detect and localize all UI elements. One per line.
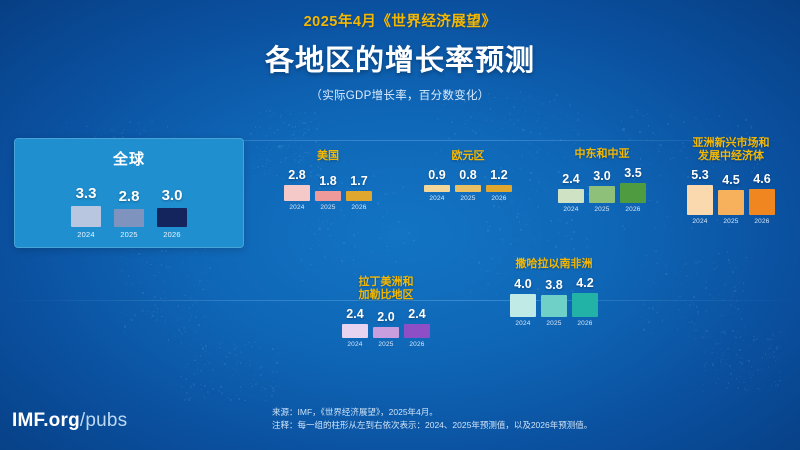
bar-group: 4.22026 bbox=[572, 276, 598, 327]
bar-year-label: 2026 bbox=[577, 320, 592, 327]
header-subtitle: （实际GDP增长率，百分数变化） bbox=[0, 87, 800, 103]
bar-group: 3.02026 bbox=[157, 187, 187, 239]
bar-value-label: 3.0 bbox=[593, 169, 610, 183]
panel-united-states: 美国 2.820241.820251.72026 bbox=[272, 150, 384, 211]
bar bbox=[510, 294, 536, 317]
bar-year-label: 2025 bbox=[320, 204, 335, 211]
panel-sub-saharan-africa: 撒哈拉以南非洲 4.020243.820254.22026 bbox=[494, 258, 614, 327]
bar-year-label: 2025 bbox=[594, 206, 609, 213]
bar-year-label: 2024 bbox=[77, 230, 95, 239]
imf-logo[interactable]: IMF.org/pubs bbox=[12, 410, 127, 432]
bar-value-label: 2.8 bbox=[119, 188, 140, 205]
bar-value-label: 5.3 bbox=[691, 168, 708, 182]
bar-year-label: 2025 bbox=[378, 341, 393, 348]
bar bbox=[572, 293, 598, 317]
imf-logo-sub: /pubs bbox=[80, 410, 127, 431]
bar-year-label: 2024 bbox=[289, 204, 304, 211]
bar bbox=[558, 189, 584, 203]
bar-group: 3.52026 bbox=[620, 166, 646, 213]
bar bbox=[71, 206, 101, 227]
bar bbox=[455, 185, 481, 192]
bar bbox=[342, 324, 368, 338]
bar-year-label: 2024 bbox=[563, 206, 578, 213]
bar-group: 3.82025 bbox=[541, 278, 567, 327]
bar-value-label: 2.0 bbox=[377, 310, 394, 324]
bar bbox=[486, 185, 512, 192]
header: 2025年4月《世界经济展望》 各地区的增长率预测 （实际GDP增长率，百分数变… bbox=[0, 10, 800, 103]
bar-year-label: 2025 bbox=[460, 195, 475, 202]
bar-chart-latin-america: 2.420242.020252.42026 bbox=[330, 307, 442, 348]
bar-group: 2.42024 bbox=[558, 172, 584, 213]
panel-title: 拉丁美洲和 加勒比地区 bbox=[330, 276, 442, 302]
panel-title: 撒哈拉以南非洲 bbox=[494, 258, 614, 271]
panel-global-title: 全球 bbox=[15, 148, 243, 169]
panel-global: 全球 3.320242.820253.02026 bbox=[14, 138, 244, 248]
bar-chart-euro-area: 0.920240.820251.22026 bbox=[412, 168, 524, 202]
bar-value-label: 3.3 bbox=[76, 185, 97, 202]
bar-chart-sub-saharan-africa: 4.020243.820254.22026 bbox=[494, 276, 614, 327]
imf-logo-main: IMF.org bbox=[12, 410, 80, 431]
footnotes: 来源：IMF，《世界经济展望》，2025年4月。 注释：每一组的柱形从左到右依次… bbox=[272, 406, 592, 432]
bar-value-label: 3.8 bbox=[545, 278, 562, 292]
bar-value-label: 4.5 bbox=[722, 173, 739, 187]
bar bbox=[718, 190, 744, 215]
bar-group: 4.62026 bbox=[749, 172, 775, 225]
bar-value-label: 0.9 bbox=[428, 168, 445, 182]
panel-middle-east-central-asia: 中东和中亚 2.420243.020253.52026 bbox=[546, 148, 658, 213]
bar-year-label: 2026 bbox=[351, 204, 366, 211]
bar bbox=[620, 183, 646, 203]
bar-year-label: 2026 bbox=[754, 218, 769, 225]
bar bbox=[404, 324, 430, 338]
bar-value-label: 3.5 bbox=[624, 166, 641, 180]
panel-emerging-asia: 亚洲新兴市场和 发展中经济体 5.320244.520254.62026 bbox=[672, 137, 790, 225]
header-superline: 2025年4月《世界经济展望》 bbox=[0, 10, 800, 31]
bar bbox=[749, 189, 775, 215]
page-title: 各地区的增长率预测 bbox=[0, 37, 800, 79]
bar-year-label: 2026 bbox=[491, 195, 506, 202]
bar-chart-emerging-asia: 5.320244.520254.62026 bbox=[672, 168, 790, 225]
bar-year-label: 2024 bbox=[347, 341, 362, 348]
bar-chart-middle-east-central-asia: 2.420243.020253.52026 bbox=[546, 166, 658, 213]
slide-canvas: 2025年4月《世界经济展望》 各地区的增长率预测 （实际GDP增长率，百分数变… bbox=[0, 0, 800, 450]
bar-group: 5.32024 bbox=[687, 168, 713, 225]
panel-title: 亚洲新兴市场和 发展中经济体 bbox=[672, 137, 790, 163]
bar-group: 2.02025 bbox=[373, 310, 399, 348]
bar bbox=[315, 191, 341, 201]
bar-group: 4.52025 bbox=[718, 173, 744, 225]
bar-value-label: 4.6 bbox=[753, 172, 770, 186]
methodology-note: 注释：每一组的柱形从左到右依次表示：2024、2025年预测值，以及2026年预… bbox=[272, 419, 592, 432]
panel-latin-america: 拉丁美洲和 加勒比地区 2.420242.020252.42026 bbox=[330, 276, 442, 348]
bar bbox=[687, 185, 713, 215]
bar-year-label: 2025 bbox=[120, 230, 138, 239]
bar-value-label: 1.2 bbox=[490, 168, 507, 182]
bar-value-label: 2.4 bbox=[562, 172, 579, 186]
bar-value-label: 2.4 bbox=[346, 307, 363, 321]
bar-year-label: 2024 bbox=[692, 218, 707, 225]
bar-group: 4.02024 bbox=[510, 277, 536, 327]
bar bbox=[424, 185, 450, 192]
bar bbox=[346, 191, 372, 201]
bar-year-label: 2026 bbox=[163, 230, 181, 239]
bar-value-label: 3.0 bbox=[162, 187, 183, 204]
bar bbox=[284, 185, 310, 201]
bar bbox=[157, 208, 187, 227]
bar-group: 3.32024 bbox=[71, 185, 101, 239]
bar-value-label: 2.4 bbox=[408, 307, 425, 321]
bar-chart-united-states: 2.820241.820251.72026 bbox=[272, 168, 384, 211]
bar-group: 3.02025 bbox=[589, 169, 615, 213]
panel-title: 欧元区 bbox=[412, 150, 524, 163]
bar-group: 1.72026 bbox=[346, 174, 372, 211]
bar-value-label: 1.7 bbox=[350, 174, 367, 188]
bar-group: 1.22026 bbox=[486, 168, 512, 202]
bar-chart-global: 3.320242.820253.02026 bbox=[15, 177, 243, 239]
panel-title: 美国 bbox=[272, 150, 384, 163]
bar-group: 0.82025 bbox=[455, 168, 481, 202]
bar-year-label: 2024 bbox=[429, 195, 444, 202]
bar-group: 2.42024 bbox=[342, 307, 368, 348]
bar-group: 0.92024 bbox=[424, 168, 450, 202]
bar-group: 2.82024 bbox=[284, 168, 310, 211]
bar-group: 2.42026 bbox=[404, 307, 430, 348]
bar-year-label: 2025 bbox=[723, 218, 738, 225]
source-note: 来源：IMF，《世界经济展望》，2025年4月。 bbox=[272, 406, 592, 419]
bar-group: 2.82025 bbox=[114, 188, 144, 239]
bar-year-label: 2026 bbox=[625, 206, 640, 213]
bar bbox=[589, 186, 615, 203]
bar-year-label: 2026 bbox=[409, 341, 424, 348]
bar bbox=[541, 295, 567, 317]
bar-value-label: 2.8 bbox=[288, 168, 305, 182]
bar-year-label: 2025 bbox=[546, 320, 561, 327]
panel-euro-area: 欧元区 0.920240.820251.22026 bbox=[412, 150, 524, 202]
bar bbox=[114, 209, 144, 227]
bar-year-label: 2024 bbox=[515, 320, 530, 327]
panel-title: 中东和中亚 bbox=[546, 148, 658, 161]
bar-value-label: 4.0 bbox=[514, 277, 531, 291]
bar-value-label: 1.8 bbox=[319, 174, 336, 188]
bar-group: 1.82025 bbox=[315, 174, 341, 211]
bar-value-label: 4.2 bbox=[576, 276, 593, 290]
bar-value-label: 0.8 bbox=[459, 168, 476, 182]
bar bbox=[373, 327, 399, 338]
